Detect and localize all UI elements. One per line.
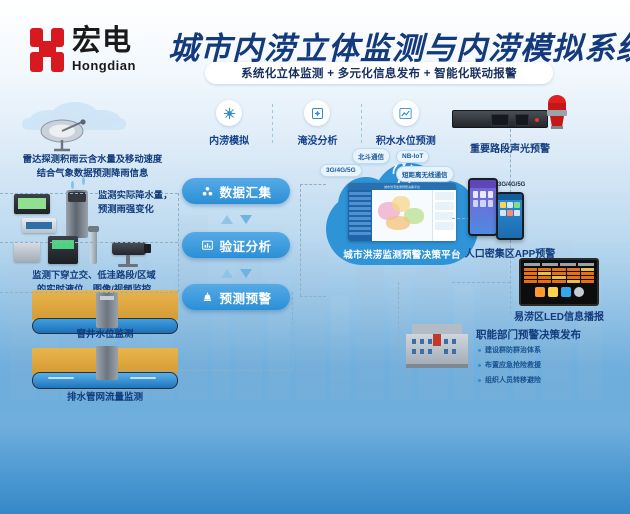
arrow-up-icon <box>221 215 233 224</box>
radar-description-line2: 结合气象数据预测降雨信息 <box>0 166 185 180</box>
connector-line <box>398 282 399 348</box>
header: 宏电 Hongdian 城市内涝立体监测与内涝模拟系统 系统化立体监测 + 多元… <box>0 0 630 92</box>
feature-label: 内涝模拟 <box>209 132 249 147</box>
siren-controller-device <box>452 110 548 128</box>
brand-logo: 宏电 Hongdian <box>30 27 136 72</box>
connector-line <box>0 193 178 194</box>
dashboard-title: 城市洪涝监测预警决策平台 <box>351 185 453 189</box>
left-sensor-column: 雷达探测积雨云含水量及移动速度 结合气象数据预测降雨信息 <box>0 95 185 181</box>
radar-description: 雷达探测积雨云含水量及移动速度 结合气象数据预测降雨信息 <box>0 152 185 181</box>
drainage-monitoring-label: 排水管网流量监测 <box>32 389 178 403</box>
flow-arrows <box>216 206 256 232</box>
government-action-item: 组织人员转移避险 <box>478 375 541 385</box>
smartphone-device <box>468 178 498 236</box>
arrow-down-icon <box>240 269 252 278</box>
validation-analysis-icon <box>200 238 214 252</box>
well-monitoring-label: 窨井水位监测 <box>32 326 178 340</box>
feature-item-flood-simulation[interactable]: 内涝模拟 <box>185 100 273 147</box>
led-broadcast-label: 易涝区LED信息播报 <box>479 308 630 323</box>
government-action-list: 建设群防群治体系 布置应急抢险救援 组织人员转移避险 <box>478 345 541 390</box>
road-sensor-devices <box>14 228 164 270</box>
connector-line <box>452 282 510 283</box>
feature-label: 积水水位预测 <box>376 132 436 147</box>
bullet-icon <box>478 364 481 367</box>
bullet-icon <box>478 349 481 352</box>
connector-line <box>292 292 293 370</box>
process-pill-data-collection[interactable]: 数据汇集 <box>182 178 290 204</box>
process-pill-validation-analysis[interactable]: 验证分析 <box>182 232 290 258</box>
government-section-title: 职能部门预警决策发布 <box>476 327 581 342</box>
phone-screen <box>498 194 522 238</box>
water-level-forecast-icon <box>393 100 419 126</box>
network-label-mobile: 3G/4G/5G <box>320 164 362 177</box>
forecast-alarm-icon <box>200 290 214 304</box>
feature-item-inundation-analysis[interactable]: 淹没分析 <box>273 100 361 147</box>
flow-arrows <box>216 260 256 286</box>
phone-screen <box>470 180 496 234</box>
government-action-item: 建设群防群治体系 <box>478 345 541 355</box>
siren-light-icon <box>544 95 570 129</box>
arrow-up-icon <box>221 269 233 278</box>
rain-description-line1: 监测实际降水量， <box>98 188 184 202</box>
pill-label: 预测预警 <box>219 288 271 307</box>
hongdian-logo-icon <box>30 28 66 72</box>
dashboard-sidebar <box>348 190 372 241</box>
connector-line <box>300 296 326 297</box>
dashboard-titlebar: 城市洪涝监测预警决策平台 <box>348 183 456 190</box>
smartphone-device-secondary <box>496 192 524 240</box>
platform-dashboard-screen[interactable]: 城市洪涝监测预警决策平台 <box>348 183 456 241</box>
network-label-shortrange: 短距离无线通信 <box>396 166 454 182</box>
road-description-line1: 监测下穿立交、低洼路段/区域 <box>8 268 180 282</box>
connector-line <box>120 370 292 371</box>
data-collection-icon <box>200 184 214 198</box>
poster-canvas: 宏电 Hongdian 城市内涝立体监测与内涝模拟系统 系统化立体监测 + 多元… <box>0 0 630 514</box>
feature-label: 淹没分析 <box>297 132 337 147</box>
network-label-nbiot: NB-IoT <box>396 150 429 163</box>
process-pill-forecast-alarm[interactable]: 预测预警 <box>182 284 290 310</box>
rain-description-line2: 预测雨强变化 <box>98 202 184 216</box>
inundation-analysis-icon <box>304 100 330 126</box>
flood-simulation-icon <box>216 100 242 126</box>
page-subtitle: 系统化立体监测 + 多元化信息发布 + 智能化联动报警 <box>205 62 553 84</box>
connector-line <box>300 184 301 296</box>
government-action-label: 布置应急抢险救援 <box>485 360 541 370</box>
logo-english-text: Hongdian <box>72 59 136 72</box>
government-action-item: 布置应急抢险救援 <box>478 360 541 370</box>
feature-item-water-level-forecast[interactable]: 积水水位预测 <box>362 100 450 147</box>
government-action-label: 组织人员转移避险 <box>485 375 541 385</box>
dashboard-panels <box>432 190 456 241</box>
siren-alarm-label: 重要路段声光预警 <box>440 140 580 155</box>
connector-line <box>0 292 178 293</box>
pill-label: 验证分析 <box>219 236 271 255</box>
arrow-down-icon <box>240 215 252 224</box>
network-label-beidou: 北斗通信 <box>352 148 390 164</box>
radar-description-line1: 雷达探测积雨云含水量及移动速度 <box>0 152 185 166</box>
connector-line <box>0 242 178 243</box>
feature-icon-row: 内涝模拟 淹没分析 积水水位预测 <box>185 100 450 147</box>
connector-line <box>178 193 179 292</box>
led-display-board <box>519 258 599 306</box>
government-building-illustration <box>406 322 468 368</box>
pill-label: 数据汇集 <box>219 182 271 201</box>
dashboard-map <box>372 190 432 241</box>
government-action-label: 建设群防群治体系 <box>485 345 541 355</box>
bullet-icon <box>478 379 481 382</box>
phone-network-badge: 3G/4G/5G <box>498 182 525 188</box>
logo-chinese-text: 宏电 <box>72 27 136 56</box>
